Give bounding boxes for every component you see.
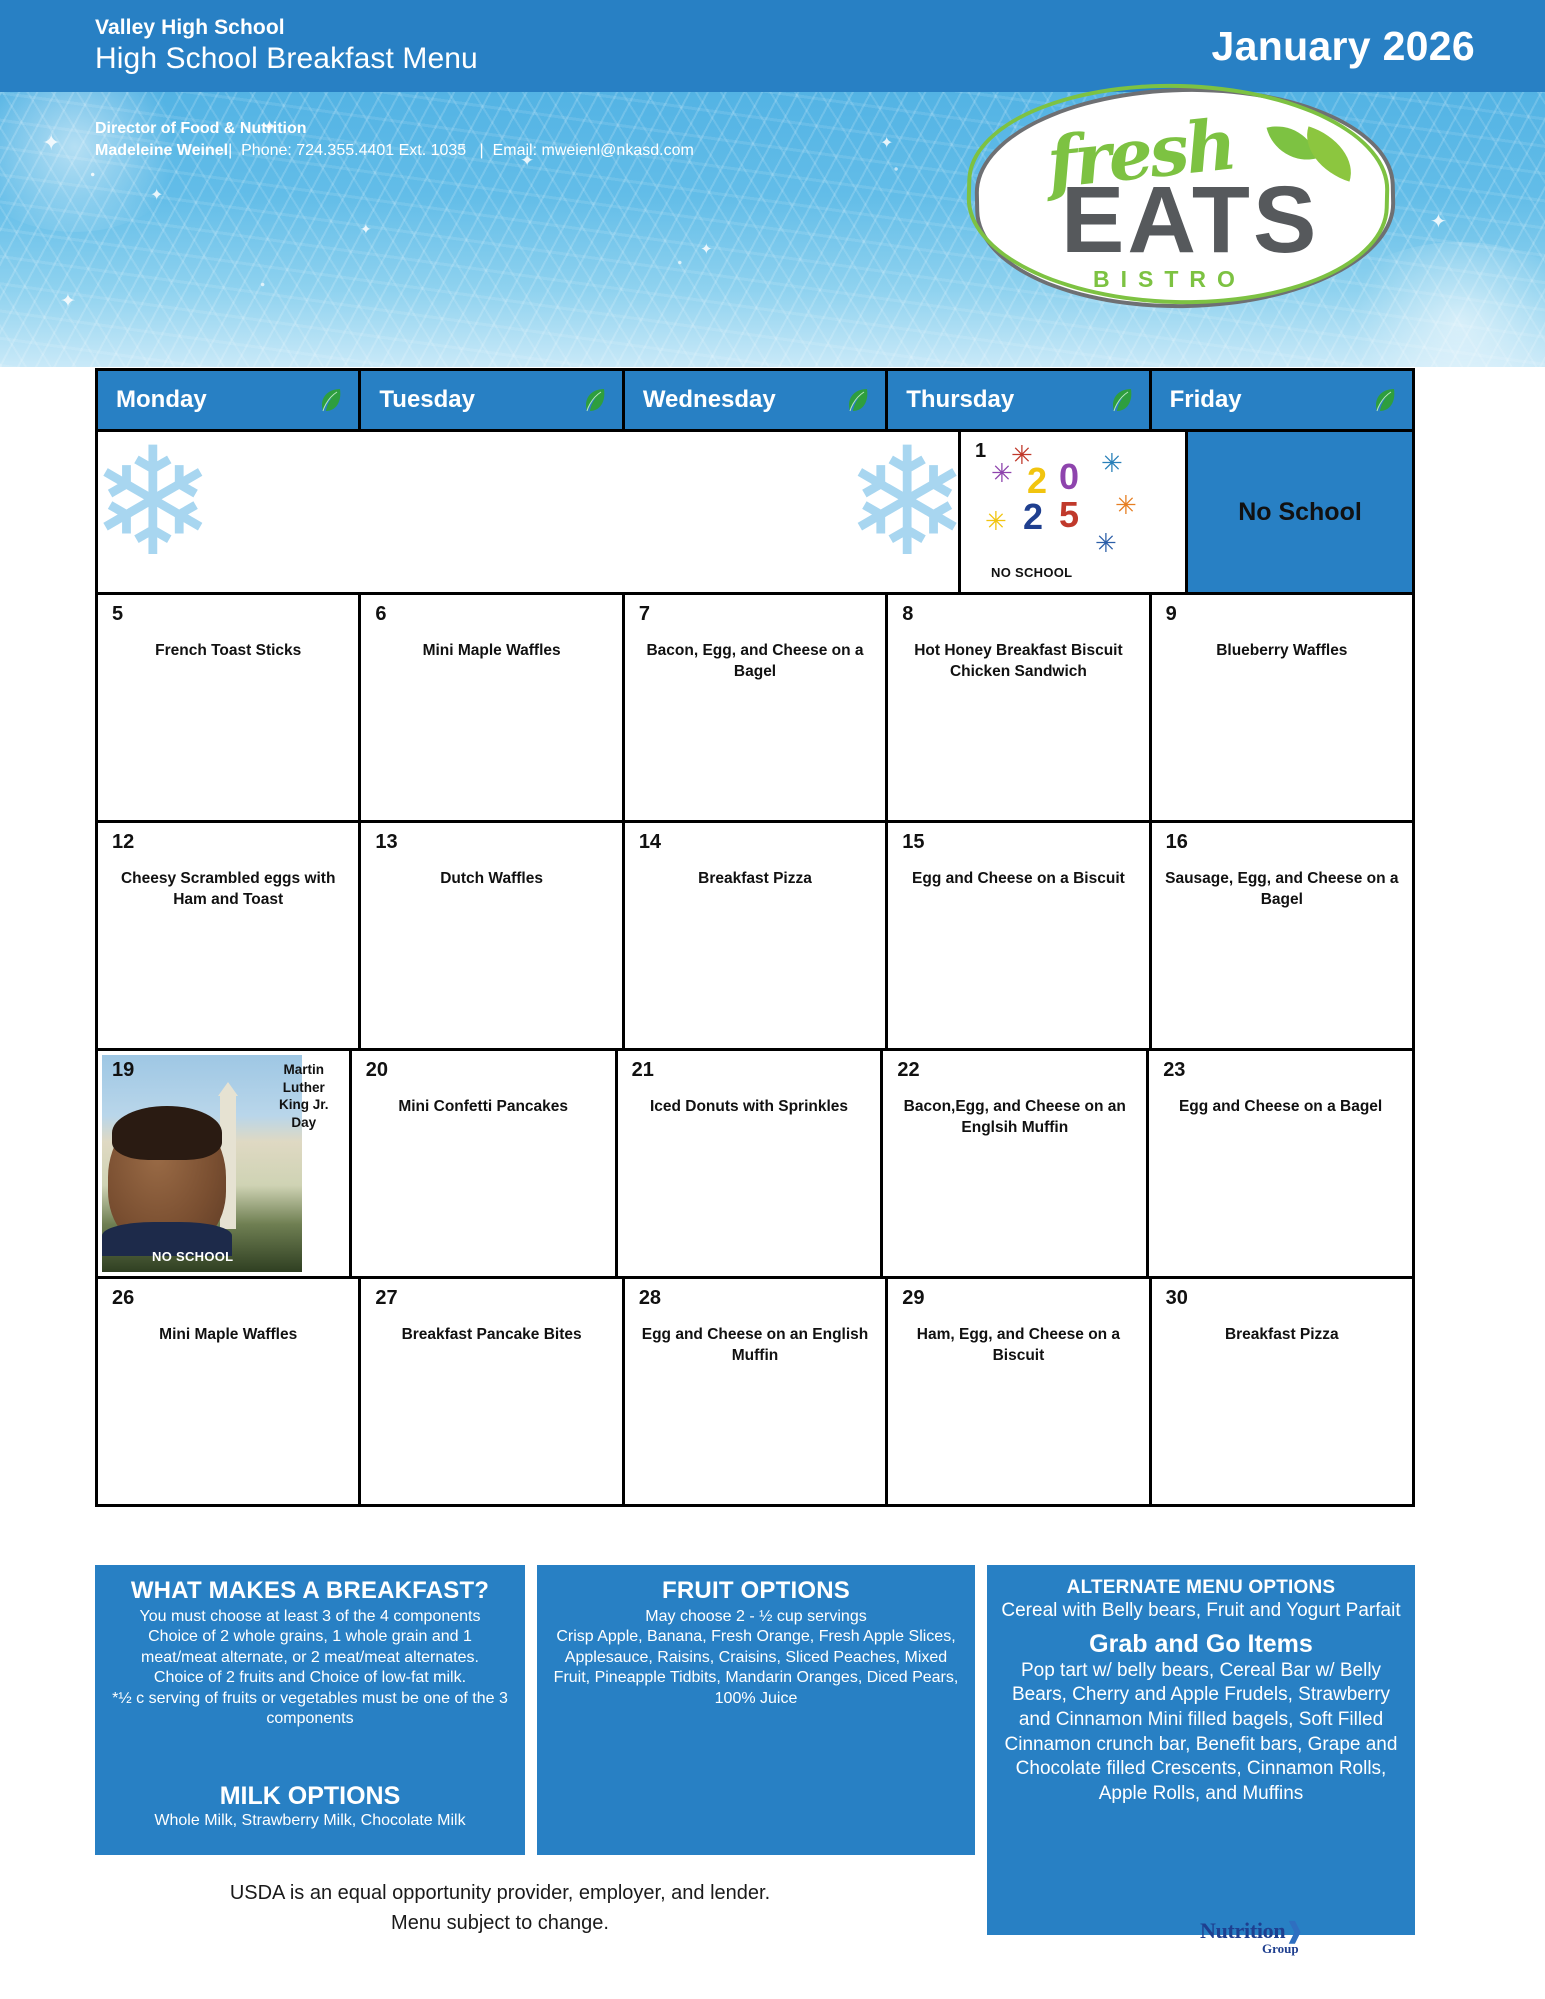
contact-sep2: | xyxy=(480,142,484,159)
calendar-day-cell-12[interactable]: 12 Cheesy Scrambled eggs with Ham and To… xyxy=(98,823,361,1048)
calendar-week-row: 26 Mini Maple Waffles 27 Breakfast Panca… xyxy=(98,1276,1412,1504)
box-line: Crisp Apple, Banana, Fresh Orange, Fresh… xyxy=(551,1627,961,1709)
calendar-day-cell-30[interactable]: 30 Breakfast Pizza xyxy=(1152,1279,1412,1504)
day-number: 29 xyxy=(902,1287,924,1310)
leaf-icon xyxy=(1374,387,1396,413)
frost-blob xyxy=(0,92,190,232)
logo-sub-word: BISTRO xyxy=(1093,266,1246,293)
page-title: High School Breakfast Menu xyxy=(95,42,478,76)
calendar-day-cell-9[interactable]: 9 Blueberry Waffles xyxy=(1152,595,1412,820)
firework-icon: ✳ xyxy=(1115,492,1137,518)
contact-details: Madeleine Weinel| Phone: 724.355.4401 Ex… xyxy=(95,140,694,162)
firework-icon: ✳ xyxy=(1101,450,1123,476)
box-line: You must choose at least 3 of the 4 comp… xyxy=(109,1607,511,1627)
day-header-label: Monday xyxy=(116,386,207,414)
calendar-day-cell-20[interactable]: 20 Mini Confetti Pancakes xyxy=(352,1051,618,1276)
box-title: ALTERNATE MENU OPTIONS xyxy=(1001,1577,1401,1599)
box-line: Choice of 2 fruits and Choice of low-fat… xyxy=(109,1668,511,1688)
meal-text: Egg and Cheese on an English Muffin xyxy=(631,1325,879,1367)
box-line: Pop tart w/ belly bears, Cereal Bar w/ B… xyxy=(1001,1659,1401,1807)
firework-icon: ✳ xyxy=(1095,530,1117,556)
calendar-day-cell-1[interactable]: 1 ✳ ✳ ✳ ✳ ✳ ✳ 2 0 2 5 NO SCHOOL xyxy=(961,432,1188,592)
day-number: 5 xyxy=(112,603,123,626)
meal-text: Breakfast Pancake Bites xyxy=(367,1325,615,1346)
meal-text: Ham, Egg, and Cheese on a Biscuit xyxy=(894,1325,1142,1367)
promo-banner-cell: ❄ ❄ Power through the morning with a hea… xyxy=(98,432,961,592)
calendar-day-cell-29[interactable]: 29 Ham, Egg, and Cheese on a Biscuit xyxy=(888,1279,1151,1504)
day-header-tuesday: Tuesday xyxy=(361,371,624,429)
year-digit: 0 xyxy=(1059,456,1079,498)
milk-options-items: Whole Milk, Strawberry Milk, Chocolate M… xyxy=(109,1811,511,1831)
box-title: WHAT MAKES A BREAKFAST? xyxy=(109,1577,511,1605)
grab-and-go-title: Grab and Go Items xyxy=(1001,1630,1401,1659)
new-year-fireworks-icon: ✳ ✳ ✳ ✳ ✳ ✳ 2 0 2 5 NO SCHOOL xyxy=(983,446,1163,566)
leaf-icon xyxy=(320,387,342,413)
day-header-label: Thursday xyxy=(906,386,1014,414)
calendar-day-cell-no-school: No School xyxy=(1188,432,1412,592)
day-header-label: Tuesday xyxy=(379,386,475,414)
calendar-day-cell-21[interactable]: 21 Iced Donuts with Sprinkles xyxy=(618,1051,884,1276)
day-header-friday: Friday xyxy=(1152,371,1412,429)
meal-text: Bacon,Egg, and Cheese on an Englsih Muff… xyxy=(889,1097,1140,1139)
snowflake-icon: ❄ xyxy=(98,432,216,577)
calendar-day-cell-22[interactable]: 22 Bacon,Egg, and Cheese on an Englsih M… xyxy=(883,1051,1149,1276)
calendar-day-cell-23[interactable]: 23 Egg and Cheese on a Bagel xyxy=(1149,1051,1412,1276)
firework-icon: ✳ xyxy=(991,460,1013,486)
day-number: 16 xyxy=(1166,831,1188,854)
contact-sep: | xyxy=(228,142,232,159)
promo-line-1: Power through the morning xyxy=(351,473,705,512)
holiday-label: Martin Luther King Jr. Day xyxy=(267,1061,341,1131)
usda-statement: USDA is an equal opportunity provider, e… xyxy=(0,1878,1000,1938)
fresh-eats-bistro-logo: fresh EATS BISTRO xyxy=(975,88,1395,308)
calendar-day-cell-6[interactable]: 6 Mini Maple Waffles xyxy=(361,595,624,820)
contact-phone: Phone: 724.355.4401 Ext. 1035 xyxy=(241,142,466,159)
month-title: January 2026 xyxy=(1212,23,1505,70)
day-number: 12 xyxy=(112,831,134,854)
what-makes-a-breakfast-box: WHAT MAKES A BREAKFAST? You must choose … xyxy=(95,1565,525,1855)
sparkle-icon: ✦ xyxy=(1430,212,1447,232)
year-digit: 2 xyxy=(1023,496,1043,538)
contact-email[interactable]: Email: mweienl@nkasd.com xyxy=(493,142,694,159)
box-title: FRUIT OPTIONS xyxy=(551,1577,961,1605)
mlk-hair-shape xyxy=(112,1106,222,1160)
day-number: 21 xyxy=(632,1059,654,1082)
meal-text: Breakfast Pizza xyxy=(631,869,879,890)
contact-name: Madeleine Weinel xyxy=(95,142,228,159)
sparkle-icon: ✦ xyxy=(880,136,893,152)
meal-text: Egg and Cheese on a Biscuit xyxy=(894,869,1142,890)
day-header-label: Wednesday xyxy=(643,386,776,414)
calendar-week-row: 5 French Toast Sticks 6 Mini Maple Waffl… xyxy=(98,592,1412,820)
calendar-day-cell-16[interactable]: 16 Sausage, Egg, and Cheese on a Bagel xyxy=(1152,823,1412,1048)
mlk-face-shape xyxy=(108,1110,226,1250)
usda-line-2: Menu subject to change. xyxy=(0,1908,1000,1938)
meal-text: French Toast Sticks xyxy=(104,641,352,662)
sparkle-icon: ✦ xyxy=(60,292,76,311)
no-school-text: No School xyxy=(1238,498,1362,527)
meal-text: Sausage, Egg, and Cheese on a Bagel xyxy=(1158,869,1406,911)
alternate-menu-options-box: ALTERNATE MENU OPTIONS Cereal with Belly… xyxy=(987,1565,1415,1935)
firework-icon: ✳ xyxy=(985,508,1007,534)
sparkle-icon: ✦ xyxy=(360,222,372,236)
day-header-label: Friday xyxy=(1170,386,1242,414)
logo-main-word: EATS xyxy=(1061,166,1319,275)
day-number: 14 xyxy=(639,831,661,854)
meal-text: Dutch Waffles xyxy=(367,869,615,890)
calendar-day-cell-15[interactable]: 15 Egg and Cheese on a Biscuit xyxy=(888,823,1151,1048)
day-header-monday: Monday xyxy=(98,371,361,429)
menu-page: Valley High School High School Breakfast… xyxy=(0,0,1545,1999)
sparkle-icon: ✦ xyxy=(700,242,713,257)
calendar-day-cell-19-holiday[interactable]: NO SCHOOL 19 Martin Luther King Jr. Day xyxy=(98,1051,352,1276)
day-number: 15 xyxy=(902,831,924,854)
calendar-day-cell-27[interactable]: 27 Breakfast Pancake Bites xyxy=(361,1279,624,1504)
meal-text: Blueberry Waffles xyxy=(1158,641,1406,662)
day-number: 8 xyxy=(902,603,913,626)
contact-role: Director of Food & Nutrition xyxy=(95,118,694,140)
menu-calendar: Monday Tuesday Wednesday Thursday Friday xyxy=(95,368,1415,1507)
meal-text: Breakfast Pizza xyxy=(1158,1325,1406,1346)
vendor-name-text: Nutrition xyxy=(1200,1918,1285,1943)
fruit-options-box: FRUIT OPTIONS May choose 2 - ½ cup servi… xyxy=(537,1565,975,1855)
page-header: Valley High School High School Breakfast… xyxy=(0,0,1545,92)
leaf-icon xyxy=(584,387,606,413)
day-number: 9 xyxy=(1166,603,1177,626)
milk-options-title: MILK OPTIONS xyxy=(109,1782,511,1811)
promo-text: Power through the morning with a hearty … xyxy=(351,473,705,551)
calendar-day-cell-7[interactable]: 7 Bacon, Egg, and Cheese on a Bagel xyxy=(625,595,888,820)
vendor-subtitle: Group xyxy=(1262,1941,1303,1957)
nutrition-group-logo: Nutrition❱ Group xyxy=(1200,1918,1303,1957)
meal-text: Egg and Cheese on a Bagel xyxy=(1155,1097,1406,1118)
day-number: 27 xyxy=(375,1287,397,1310)
school-title-block: Valley High School High School Breakfast… xyxy=(95,16,478,75)
box-line: May choose 2 - ½ cup servings xyxy=(551,1607,961,1627)
day-number: 28 xyxy=(639,1287,661,1310)
leaf-icon xyxy=(847,387,869,413)
calendar-week-row: NO SCHOOL 19 Martin Luther King Jr. Day … xyxy=(98,1048,1412,1276)
day-number: 26 xyxy=(112,1287,134,1310)
day-header-wednesday: Wednesday xyxy=(625,371,888,429)
meal-text: Iced Donuts with Sprinkles xyxy=(624,1097,875,1118)
snowflake-icon: ❄ xyxy=(844,432,961,577)
calendar-day-header-row: Monday Tuesday Wednesday Thursday Friday xyxy=(98,371,1412,429)
day-number: 20 xyxy=(366,1059,388,1082)
day-number: 23 xyxy=(1163,1059,1185,1082)
calendar-day-cell-14[interactable]: 14 Breakfast Pizza xyxy=(625,823,888,1048)
box-line: Cereal with Belly bears, Fruit and Yogur… xyxy=(1001,1599,1401,1624)
spacer xyxy=(109,1730,511,1776)
school-name: Valley High School xyxy=(95,16,478,40)
meal-text: Mini Maple Waffles xyxy=(367,641,615,662)
meal-text: Cheesy Scrambled eggs with Ham and Toast xyxy=(104,869,352,911)
no-school-label: NO SCHOOL xyxy=(991,565,1072,580)
calendar-week-row: ❄ ❄ Power through the morning with a hea… xyxy=(98,429,1412,592)
meal-text: Mini Confetti Pancakes xyxy=(358,1097,609,1118)
day-number: 19 xyxy=(112,1059,134,1082)
calendar-day-cell-8[interactable]: 8 Hot Honey Breakfast Biscuit Chicken Sa… xyxy=(888,595,1151,820)
calendar-day-cell-5[interactable]: 5 French Toast Sticks xyxy=(98,595,361,820)
day-number: 22 xyxy=(897,1059,919,1082)
leaf-icon xyxy=(1111,387,1133,413)
no-school-label: NO SCHOOL xyxy=(152,1249,233,1264)
day-header-thursday: Thursday xyxy=(888,371,1151,429)
day-number: 6 xyxy=(375,603,386,626)
day-number: 13 xyxy=(375,831,397,854)
calendar-day-cell-26[interactable]: 26 Mini Maple Waffles xyxy=(98,1279,361,1504)
usda-line-1: USDA is an equal opportunity provider, e… xyxy=(0,1878,1000,1908)
calendar-day-cell-28[interactable]: 28 Egg and Cheese on an English Muffin xyxy=(625,1279,888,1504)
meal-text: Bacon, Egg, and Cheese on a Bagel xyxy=(631,641,879,683)
box-line: *½ c serving of fruits or vegetables mus… xyxy=(109,1689,511,1730)
calendar-week-row: 12 Cheesy Scrambled eggs with Ham and To… xyxy=(98,820,1412,1048)
calendar-day-cell-13[interactable]: 13 Dutch Waffles xyxy=(361,823,624,1048)
box-line: Choice of 2 whole grains, 1 whole grain … xyxy=(109,1627,511,1668)
meal-text: Hot Honey Breakfast Biscuit Chicken Sand… xyxy=(894,641,1142,683)
day-number: 7 xyxy=(639,603,650,626)
year-digit: 5 xyxy=(1059,494,1079,536)
promo-line-2: with a hearty meal. xyxy=(351,512,705,551)
contact-block: Director of Food & Nutrition Madeleine W… xyxy=(95,118,694,161)
meal-text: Mini Maple Waffles xyxy=(104,1325,352,1346)
day-number: 30 xyxy=(1166,1287,1188,1310)
